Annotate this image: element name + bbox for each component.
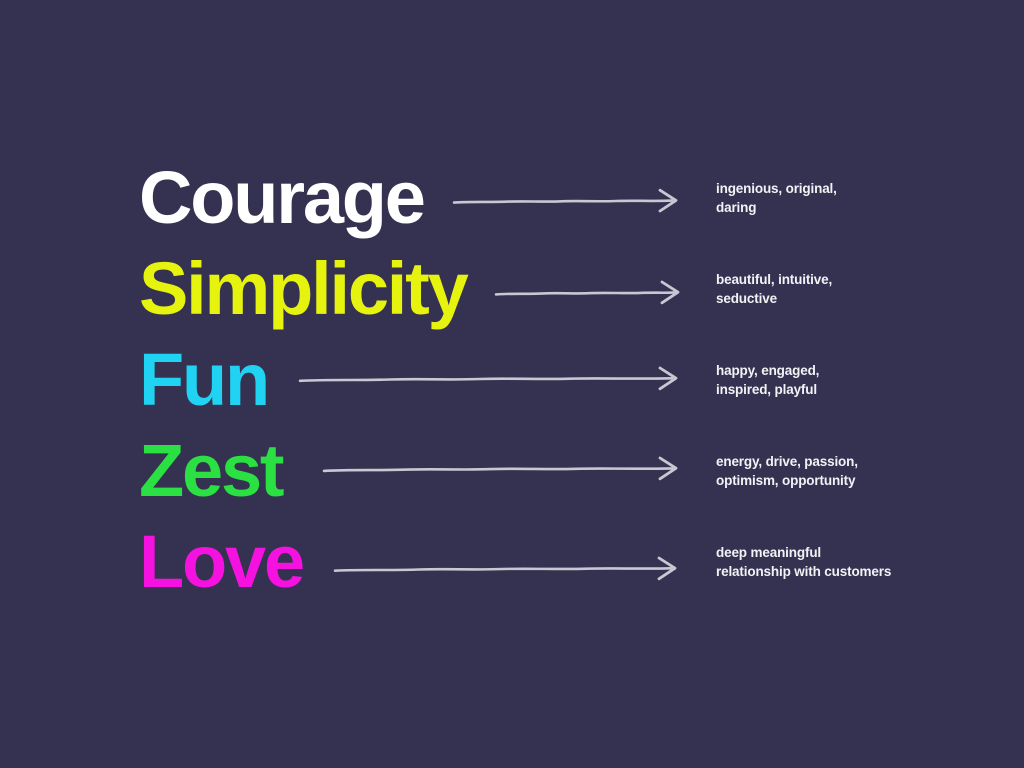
descriptor-line: deep meaningful — [716, 543, 956, 562]
descriptor-line: happy, engaged, — [716, 361, 956, 380]
hand-drawn-arrow-right-icon — [494, 276, 690, 308]
descriptor-line: optimism, opportunity — [716, 471, 956, 490]
value-word-courage: Courage — [139, 161, 424, 235]
descriptor-line: daring — [716, 198, 956, 217]
value-word-love: Love — [139, 525, 303, 599]
descriptor-line: energy, drive, passion, — [716, 452, 956, 471]
descriptor-courage: ingenious, original, daring — [716, 179, 956, 217]
hand-drawn-arrow-right-icon — [298, 362, 690, 394]
slide-canvas: Courage Simplicity Fun Zest Love ingenio… — [0, 0, 1024, 768]
value-word-zest: Zest — [139, 434, 282, 508]
descriptor-fun: happy, engaged, inspired, playful — [716, 361, 956, 399]
hand-drawn-arrow-right-icon — [333, 552, 689, 584]
descriptor-line: ingenious, original, — [716, 179, 956, 198]
descriptor-zest: energy, drive, passion, optimism, opport… — [716, 452, 956, 490]
descriptor-line: inspired, playful — [716, 380, 956, 399]
descriptor-love: deep meaningful relationship with custom… — [716, 543, 956, 581]
descriptor-line: beautiful, intuitive, — [716, 270, 956, 289]
descriptor-line: seductive — [716, 289, 956, 308]
descriptor-line: relationship with customers — [716, 562, 956, 581]
value-word-simplicity: Simplicity — [139, 252, 467, 326]
value-word-fun: Fun — [139, 343, 268, 417]
hand-drawn-arrow-right-icon — [322, 452, 690, 484]
hand-drawn-arrow-right-icon — [452, 184, 690, 216]
descriptor-simplicity: beautiful, intuitive, seductive — [716, 270, 956, 308]
